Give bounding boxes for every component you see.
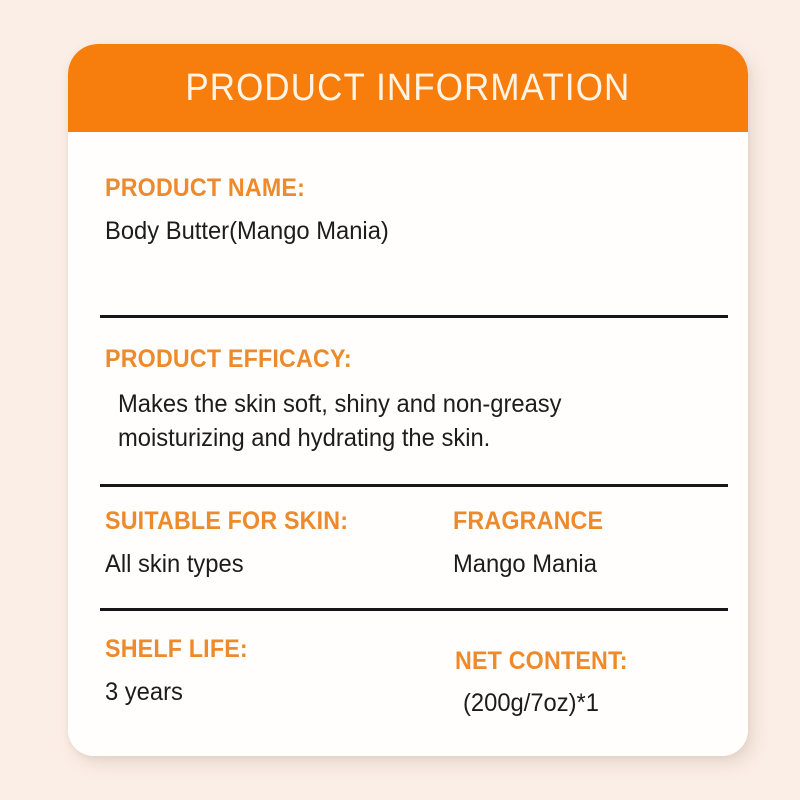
card-header-banner: PRODUCT INFORMATION [68, 44, 748, 132]
card-body: PRODUCT NAME: Body Butter(Mango Mania) P… [68, 132, 748, 756]
page-root: PRODUCT INFORMATION PRODUCT NAME: Body B… [0, 0, 800, 800]
fragrance-heading: FRAGRANCE [453, 507, 748, 536]
fragrance-value: Mango Mania [453, 550, 748, 579]
product-efficacy-heading: PRODUCT EFFICACY: [105, 345, 737, 374]
card-header-title: PRODUCT INFORMATION [185, 67, 630, 110]
product-efficacy-line-2: moisturizing and hydrating the skin. [118, 421, 748, 455]
section-product-name: PRODUCT NAME: Body Butter(Mango Mania) [105, 174, 748, 246]
divider-1 [100, 315, 728, 318]
divider-3 [100, 608, 728, 611]
section-product-efficacy: PRODUCT EFFICACY: Makes the skin soft, s… [105, 345, 748, 455]
net-content-heading: NET CONTENT: [455, 647, 748, 676]
net-content-value: (200g/7oz)*1 [463, 689, 748, 718]
section-net-content: NET CONTENT: (200g/7oz)*1 [455, 647, 748, 718]
product-information-card: PRODUCT INFORMATION PRODUCT NAME: Body B… [68, 44, 748, 756]
section-fragrance: FRAGRANCE Mango Mania [453, 507, 748, 579]
product-name-heading: PRODUCT NAME: [105, 174, 737, 203]
product-name-value: Body Butter(Mango Mania) [105, 217, 748, 246]
product-efficacy-line-1: Makes the skin soft, shiny and non-greas… [118, 387, 748, 421]
product-efficacy-value: Makes the skin soft, shiny and non-greas… [118, 387, 748, 455]
divider-2 [100, 484, 728, 487]
